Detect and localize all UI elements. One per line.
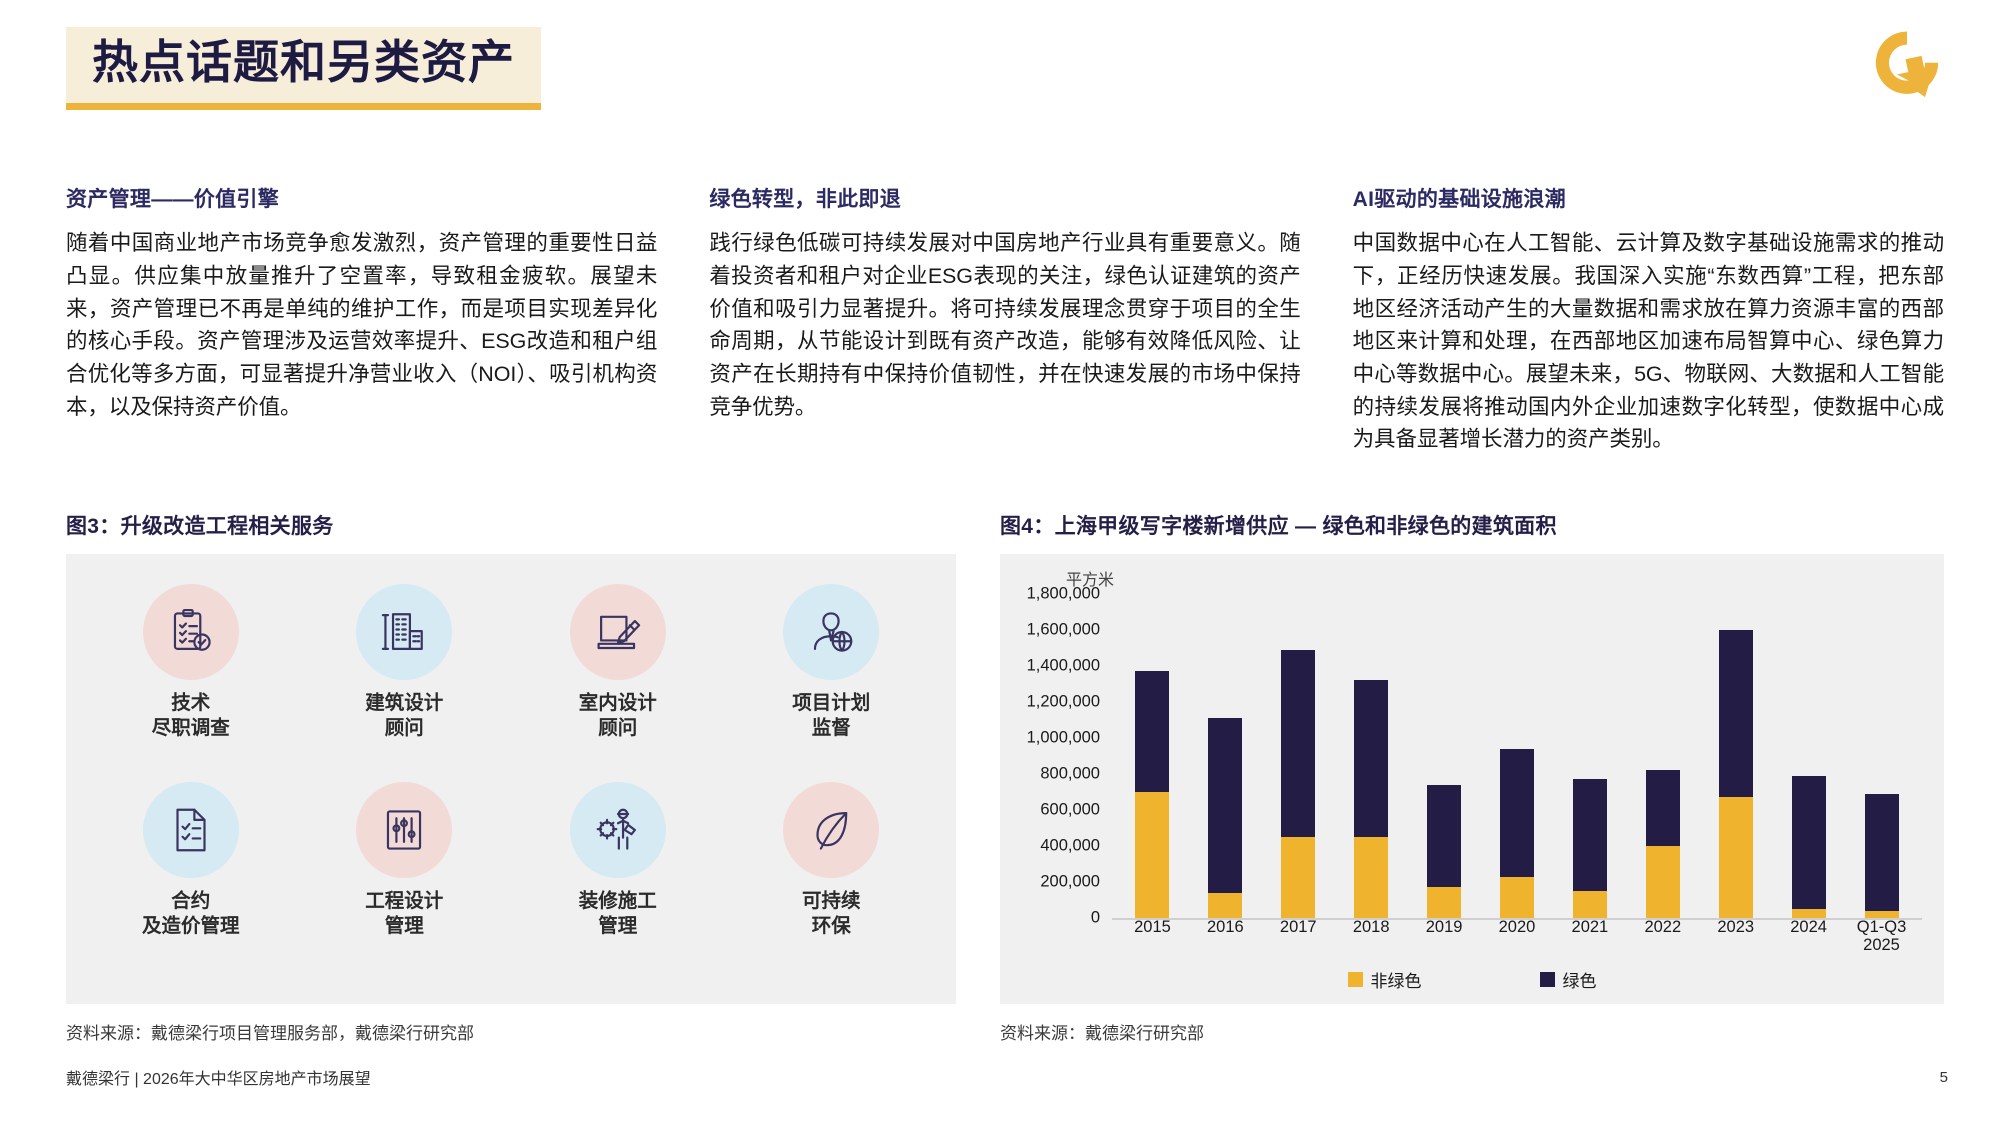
bar-segment-non-green xyxy=(1427,887,1461,918)
y-tick-label: 200,000 xyxy=(1040,873,1100,892)
text-columns: 资产管理——价值引擎 随着中国商业地产市场竞争愈发激烈，资产管理的重要性日益凸显… xyxy=(66,186,1944,456)
column-ai-infrastructure: AI驱动的基础设施浪潮 中国数据中心在人工智能、云计算及数字基础设施需求的推动下… xyxy=(1353,186,1944,456)
chart-bar-group xyxy=(1553,594,1626,918)
chart-bar-group xyxy=(1845,594,1918,918)
bar-segment-green xyxy=(1500,749,1534,877)
figure-3-panel: 技术 尽职调查建筑设计 顾问室内设计 顾问项目计划 监督合约 及造价管理工程设计… xyxy=(66,554,956,1004)
bar-segment-non-green xyxy=(1719,797,1753,918)
legend-swatch xyxy=(1348,972,1363,987)
bar-segment-green xyxy=(1573,779,1607,891)
y-tick-label: 1,800,000 xyxy=(1027,585,1100,604)
bar-segment-non-green xyxy=(1865,911,1899,918)
bar-segment-non-green xyxy=(1281,837,1315,918)
footer-page-number: 5 xyxy=(1940,1069,1948,1086)
column-heading: 绿色转型，非此即退 xyxy=(709,186,1300,213)
service-icon-grid: 技术 尽职调查建筑设计 顾问室内设计 顾问项目计划 监督合约 及造价管理工程设计… xyxy=(84,584,938,980)
column-body: 随着中国商业地产市场竞争愈发激烈，资产管理的重要性日益凸显。供应集中放量推升了空… xyxy=(66,227,657,423)
bar-segment-green xyxy=(1719,630,1753,797)
chart-bar-group xyxy=(1116,594,1189,918)
bar-segment-green xyxy=(1865,794,1899,911)
stacked-bar xyxy=(1500,749,1534,918)
leaf-icon xyxy=(783,782,879,878)
document-checklist-icon xyxy=(143,782,239,878)
bar-segment-non-green xyxy=(1354,837,1388,918)
column-green-transition: 绿色转型，非此即退 践行绿色低碳可持续发展对中国房地产行业具有重要意义。随着投资… xyxy=(709,186,1300,456)
x-tick-label: 2018 xyxy=(1335,918,1408,952)
figure-3: 图3：升级改造工程相关服务 技术 尽职调查建筑设计 顾问室内设计 顾问项目计划 … xyxy=(66,510,956,1044)
bar-segment-non-green xyxy=(1208,893,1242,918)
service-item-label: 室内设计 顾问 xyxy=(579,691,657,741)
x-tick-label: 2024 xyxy=(1772,918,1845,952)
x-tick-label: 2020 xyxy=(1481,918,1554,952)
bar-segment-non-green xyxy=(1573,891,1607,918)
y-tick-label: 800,000 xyxy=(1040,765,1100,784)
service-item: 合约 及造价管理 xyxy=(84,782,298,980)
chart-bars xyxy=(1116,594,1918,918)
figure-3-source: 资料来源：戴德梁行项目管理服务部，戴德梁行研究部 xyxy=(66,1019,956,1044)
x-tick-label: 2021 xyxy=(1553,918,1626,952)
legend-label: 绿色 xyxy=(1563,967,1597,992)
chart-y-axis: 0200,000400,000600,000800,0001,000,0001,… xyxy=(1000,594,1108,918)
service-item-label: 项目计划 监督 xyxy=(792,691,870,741)
stacked-bar xyxy=(1646,770,1680,918)
bar-segment-green xyxy=(1354,680,1388,837)
chart-plot-area xyxy=(1116,594,1918,918)
x-tick-label: 2017 xyxy=(1262,918,1335,952)
bar-segment-non-green xyxy=(1792,909,1826,918)
service-item: 可持续 环保 xyxy=(725,782,939,980)
chart-bar-group xyxy=(1335,594,1408,918)
chart-bar-group xyxy=(1626,594,1699,918)
stacked-bar xyxy=(1208,718,1242,918)
column-heading: 资产管理——价值引擎 xyxy=(66,186,657,213)
page-title: 热点话题和另类资产 xyxy=(92,37,515,89)
y-tick-label: 0 xyxy=(1091,909,1100,928)
x-tick-label: 2015 xyxy=(1116,918,1189,952)
stacked-bar xyxy=(1427,785,1461,918)
worker-gear-icon xyxy=(570,782,666,878)
bar-segment-green xyxy=(1281,650,1315,837)
chart-bar-group xyxy=(1772,594,1845,918)
service-item: 项目计划 监督 xyxy=(725,584,939,782)
chart-legend: 非绿色绿色 xyxy=(1000,967,1944,992)
column-body: 践行绿色低碳可持续发展对中国房地产行业具有重要意义。随着投资者和租户对企业ESG… xyxy=(709,227,1300,423)
column-heading: AI驱动的基础设施浪潮 xyxy=(1353,186,1944,213)
stacked-bar xyxy=(1719,630,1753,918)
bar-segment-green xyxy=(1427,785,1461,888)
bar-segment-non-green xyxy=(1500,877,1534,918)
stacked-bar xyxy=(1354,680,1388,918)
y-tick-label: 1,200,000 xyxy=(1027,693,1100,712)
page-title-band: 热点话题和另类资产 xyxy=(66,27,541,110)
service-item: 室内设计 顾问 xyxy=(511,584,725,782)
chart-bar-group xyxy=(1408,594,1481,918)
sliders-icon xyxy=(356,782,452,878)
column-asset-management: 资产管理——价值引擎 随着中国商业地产市场竞争愈发激烈，资产管理的重要性日益凸显… xyxy=(66,186,657,456)
bar-segment-green xyxy=(1646,770,1680,846)
service-item: 装修施工 管理 xyxy=(511,782,725,980)
x-tick-label: Q1-Q3 2025 xyxy=(1845,918,1918,952)
figure-4-title: 图4：上海甲级写字楼新增供应 — 绿色和非绿色的建筑面积 xyxy=(1000,510,1944,540)
chart-bar-group xyxy=(1189,594,1262,918)
figure-4: 图4：上海甲级写字楼新增供应 — 绿色和非绿色的建筑面积 平方米 0200,00… xyxy=(1000,510,1944,1044)
cushman-wakefield-logo xyxy=(1866,25,1948,107)
figure-3-title: 图3：升级改造工程相关服务 xyxy=(66,510,956,540)
service-item: 工程设计 管理 xyxy=(298,782,512,980)
service-item-label: 合约 及造价管理 xyxy=(142,889,240,939)
y-tick-label: 1,600,000 xyxy=(1027,621,1100,640)
y-tick-label: 600,000 xyxy=(1040,801,1100,820)
x-tick-label: 2019 xyxy=(1408,918,1481,952)
service-item: 建筑设计 顾问 xyxy=(298,584,512,782)
y-tick-label: 400,000 xyxy=(1040,837,1100,856)
stacked-bar xyxy=(1573,779,1607,918)
person-globe-icon xyxy=(783,584,879,680)
service-item-label: 可持续 环保 xyxy=(802,889,861,939)
slide-page: 热点话题和另类资产 资产管理——价值引擎 随着中国商业地产市场竞争愈发激烈，资产… xyxy=(0,0,2000,1125)
bar-segment-green xyxy=(1792,776,1826,909)
figure-4-chart: 平方米 0200,000400,000600,000800,0001,000,0… xyxy=(1000,554,1944,1004)
footer-text: 戴德梁行 | 2026年大中华区房地产市场展望 xyxy=(66,1065,371,1089)
bar-segment-non-green xyxy=(1646,846,1680,918)
y-tick-label: 1,000,000 xyxy=(1027,729,1100,748)
stacked-bar xyxy=(1792,776,1826,918)
service-item-label: 装修施工 管理 xyxy=(579,889,657,939)
bar-segment-green xyxy=(1135,671,1169,792)
design-pen-icon xyxy=(570,584,666,680)
clipboard-check-icon xyxy=(143,584,239,680)
legend-swatch xyxy=(1540,972,1555,987)
x-tick-label: 2016 xyxy=(1189,918,1262,952)
chart-bar-group xyxy=(1262,594,1335,918)
service-item: 技术 尽职调查 xyxy=(84,584,298,782)
chart-bar-group xyxy=(1481,594,1554,918)
chart-x-axis: 2015201620172018201920202021202220232024… xyxy=(1116,918,1918,952)
chart-bar-group xyxy=(1699,594,1772,918)
y-tick-label: 1,400,000 xyxy=(1027,657,1100,676)
legend-label: 非绿色 xyxy=(1371,967,1422,992)
bar-segment-non-green xyxy=(1135,792,1169,918)
stacked-bar xyxy=(1865,794,1899,918)
stacked-bar xyxy=(1135,671,1169,918)
column-body: 中国数据中心在人工智能、云计算及数字基础设施需求的推动下，正经历快速发展。我国深… xyxy=(1353,227,1944,456)
service-item-label: 工程设计 管理 xyxy=(365,889,443,939)
page-footer: 戴德梁行 | 2026年大中华区房地产市场展望 5 xyxy=(66,1065,1948,1089)
x-tick-label: 2022 xyxy=(1626,918,1699,952)
legend-item: 非绿色 xyxy=(1348,967,1422,992)
service-item-label: 建筑设计 顾问 xyxy=(365,691,443,741)
x-tick-label: 2023 xyxy=(1699,918,1772,952)
bar-segment-green xyxy=(1208,718,1242,893)
stacked-bar xyxy=(1281,650,1315,918)
building-icon xyxy=(356,584,452,680)
figure-4-source: 资料来源：戴德梁行研究部 xyxy=(1000,1019,1944,1044)
service-item-label: 技术 尽职调查 xyxy=(152,691,230,741)
legend-item: 绿色 xyxy=(1540,967,1597,992)
